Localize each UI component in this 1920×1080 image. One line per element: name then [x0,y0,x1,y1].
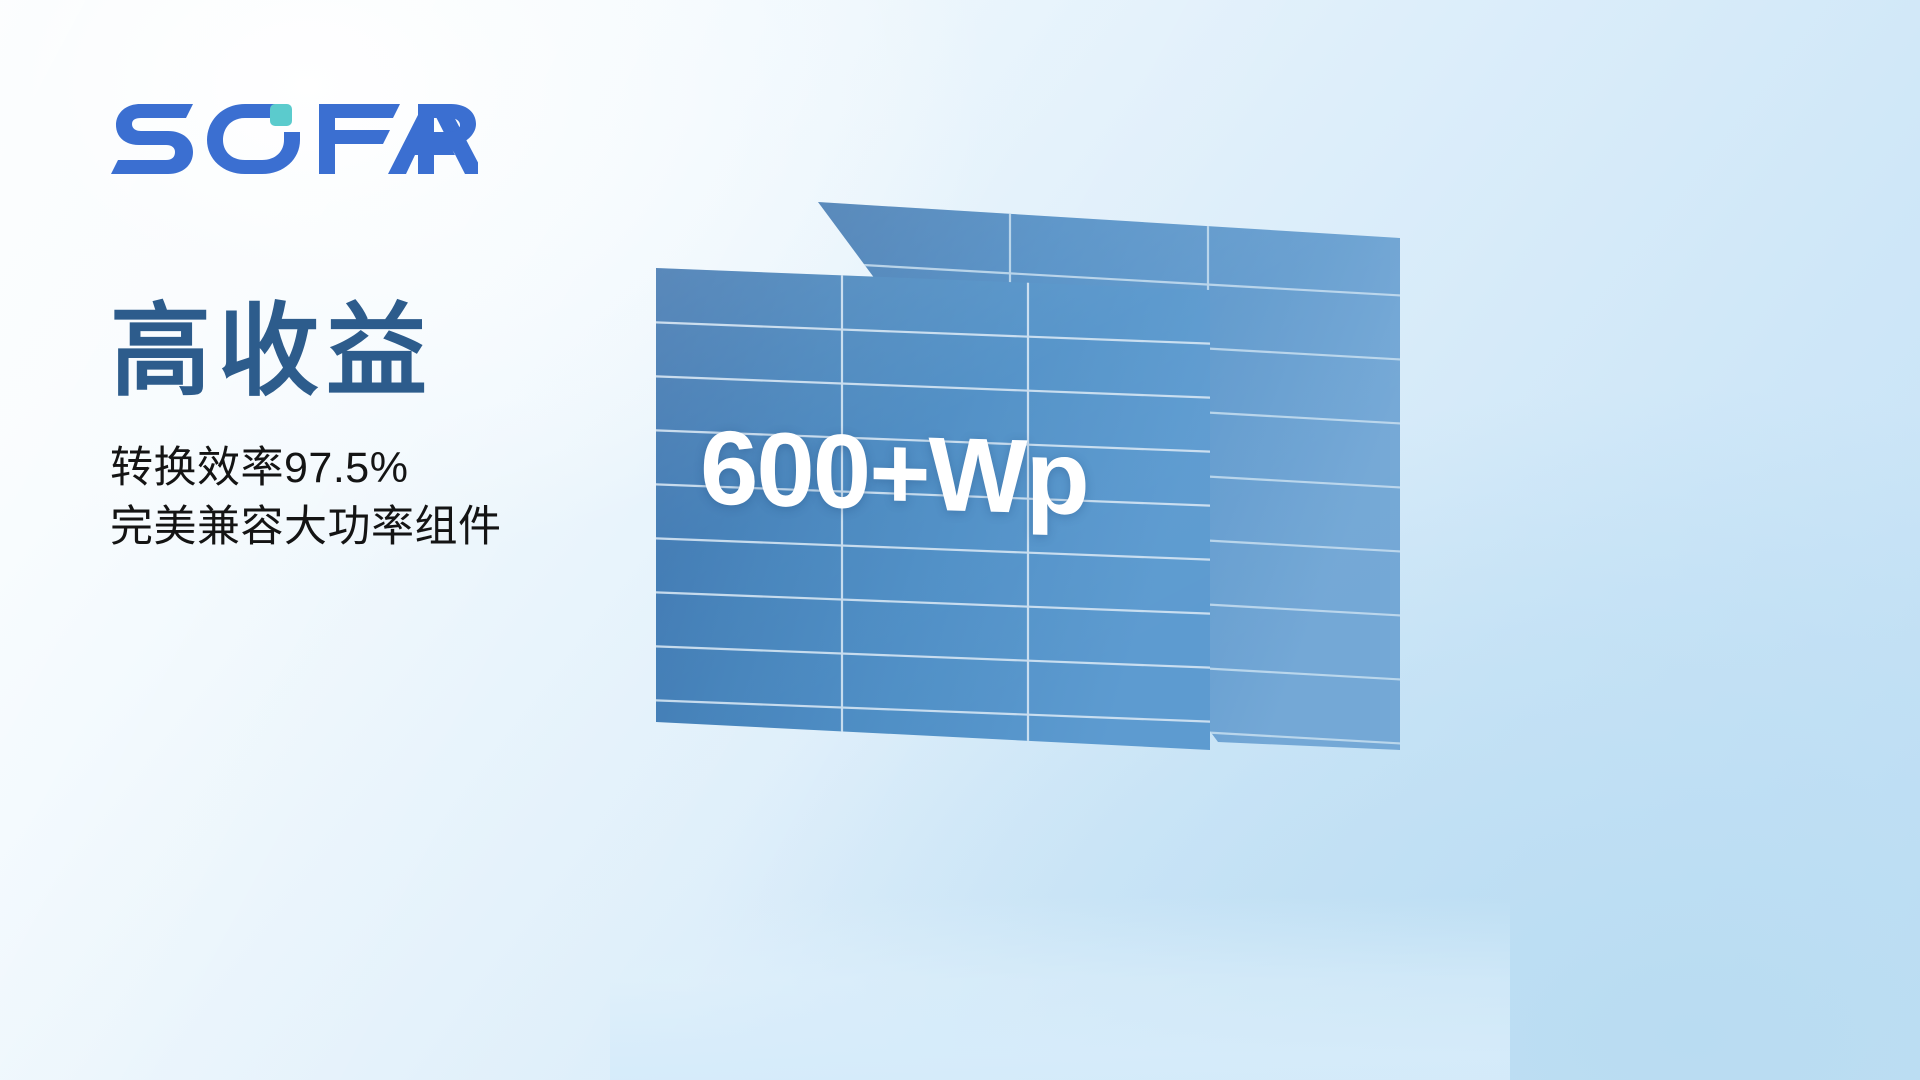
page-title: 高收益 [110,300,730,405]
sofar-logo-r [416,96,478,174]
sofar-logo[interactable]: SOFAR [110,96,478,174]
panel-power-label: 600+Wp [700,408,1170,541]
subtitle-line-1: 转换效率97.5% [110,439,730,497]
solar-panels-svg [610,150,1510,950]
subtitle-line-2: 完美兼容大功率组件 [110,498,730,556]
solar-panel-group [610,150,1510,950]
content-column: SOFAR 高收益 转换效率97.5% 完美兼容大功率组件 [110,96,730,556]
subtitle-block: 转换效率97.5% 完美兼容大功率组件 [110,439,730,556]
o-square-accent-icon [270,104,292,126]
banner-canvas: 600+Wp [0,0,1920,1080]
